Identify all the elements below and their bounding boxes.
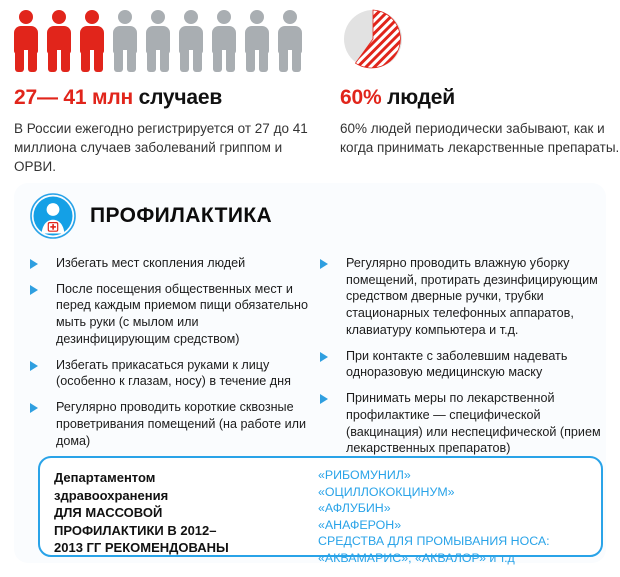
infographic-page: 27— 41 млн случаев В России ежегодно рег…: [0, 0, 620, 577]
person-figure: [276, 10, 304, 72]
person-figure: [144, 10, 172, 72]
recommendation-heading: ДепартаментомздравоохраненияДЛЯ МАССОВОЙ…: [40, 458, 300, 555]
prevention-bullet-text: Регулярно проводить влажную уборку помещ…: [346, 255, 606, 339]
pie-chart-wrap: [338, 10, 620, 72]
person-figure: [78, 10, 106, 72]
prevention-bullet: Избегать мест скопления людей: [30, 255, 314, 272]
panel-title: ПРОФИЛАКТИКА: [90, 204, 272, 228]
prevention-bullet: Избегать прикасаться руками к лицу (особ…: [30, 357, 314, 390]
stat-headline-percent: 60% людей: [340, 86, 620, 110]
person-figure: [210, 10, 238, 72]
prevention-bullet-text: При контакте с заболевшим надевать однор…: [346, 348, 606, 381]
prevention-bullet-text: Регулярно проводить короткие сквозные пр…: [56, 399, 314, 449]
recommended-drug-line: СРЕДСТВА ДЛЯ ПРОМЫВАНИЯ НОСА:: [318, 533, 601, 550]
prevention-bullet-text: Избегать прикасаться руками к лицу (особ…: [56, 357, 314, 390]
prevention-bullet-text: После посещения общественных мест и пере…: [56, 281, 314, 348]
doctor-icon: [30, 193, 76, 239]
recommended-drug-line: «ОЦИЛЛОКОКЦИНУМ»: [318, 484, 601, 501]
stat-body-percent: 60% людей периодически забывают, как и к…: [340, 119, 620, 157]
recommendation-heading-line: здравоохранения: [54, 487, 300, 505]
prevention-bullet: При контакте с заболевшим надевать однор…: [320, 348, 606, 381]
prevention-columns: Избегать мест скопления людейПосле посещ…: [14, 239, 606, 466]
panel-header: ПРОФИЛАКТИКА: [14, 183, 606, 239]
person-figure: [12, 10, 40, 72]
stat-headline-word: случаев: [139, 86, 222, 109]
stat-headline-percent-number: 60%: [340, 86, 387, 109]
recommended-drug-line: «РИБОМУНИЛ»: [318, 467, 601, 484]
triangle-bullet-icon: [30, 285, 50, 295]
prevention-bullet-text: Избегать мест скопления людей: [56, 255, 245, 272]
triangle-bullet-icon: [30, 403, 50, 413]
recommendation-heading-line: 2013 ГГ РЕКОМЕНДОВАНЫ: [54, 539, 300, 557]
recommended-drugs-list: «РИБОМУНИЛ»«ОЦИЛЛОКОКЦИНУМ»«АФЛУБИН»«АНА…: [300, 458, 601, 555]
stats-row: 27— 41 млн случаев В России ежегодно рег…: [0, 0, 620, 176]
person-figure: [243, 10, 271, 72]
recommendation-heading-line: ПРОФИЛАКТИКИ В 2012–: [54, 522, 300, 540]
pie-chart-icon: [340, 6, 406, 72]
prevention-bullet: Регулярно проводить короткие сквозные пр…: [30, 399, 314, 449]
stat-headline-number: 27— 41 млн: [14, 86, 139, 109]
stat-body-cases: В России ежегодно регистрируется от 27 д…: [14, 119, 314, 176]
stat-card-cases: 27— 41 млн случаев В России ежегодно рег…: [0, 0, 330, 176]
recommendation-box: ДепартаментомздравоохраненияДЛЯ МАССОВОЙ…: [38, 456, 603, 557]
prevention-bullet-text: Принимать меры по лекарственной профилак…: [346, 390, 606, 457]
stat-headline-cases: 27— 41 млн случаев: [14, 86, 330, 110]
prevention-bullet: После посещения общественных мест и пере…: [30, 281, 314, 348]
recommended-drug-line: «АКВАМАРИС», «АКВАЛОР» и т.д: [318, 550, 601, 567]
prevention-bullet: Принимать меры по лекарственной профилак…: [320, 390, 606, 457]
person-figure: [45, 10, 73, 72]
prevention-list-right: Регулярно проводить влажную уборку помещ…: [314, 255, 606, 466]
stat-card-percent: 60% людей 60% людей периодически забываю…: [330, 0, 620, 176]
stat-headline-percent-word: людей: [387, 86, 455, 109]
prevention-list-left: Избегать мест скопления людейПосле посещ…: [14, 255, 314, 466]
recommended-drug-line: «АНАФЕРОН»: [318, 517, 601, 534]
prevention-bullet: Регулярно проводить влажную уборку помещ…: [320, 255, 606, 339]
recommended-drug-line: «АФЛУБИН»: [318, 500, 601, 517]
triangle-bullet-icon: [30, 361, 50, 371]
triangle-bullet-icon: [320, 394, 340, 404]
triangle-bullet-icon: [320, 259, 340, 269]
person-figure: [177, 10, 205, 72]
triangle-bullet-icon: [320, 352, 340, 362]
triangle-bullet-icon: [30, 259, 50, 269]
person-figure: [111, 10, 139, 72]
people-row-icon: [12, 10, 330, 72]
recommendation-heading-line: Департаментом: [54, 469, 300, 487]
recommendation-heading-line: ДЛЯ МАССОВОЙ: [54, 504, 300, 522]
